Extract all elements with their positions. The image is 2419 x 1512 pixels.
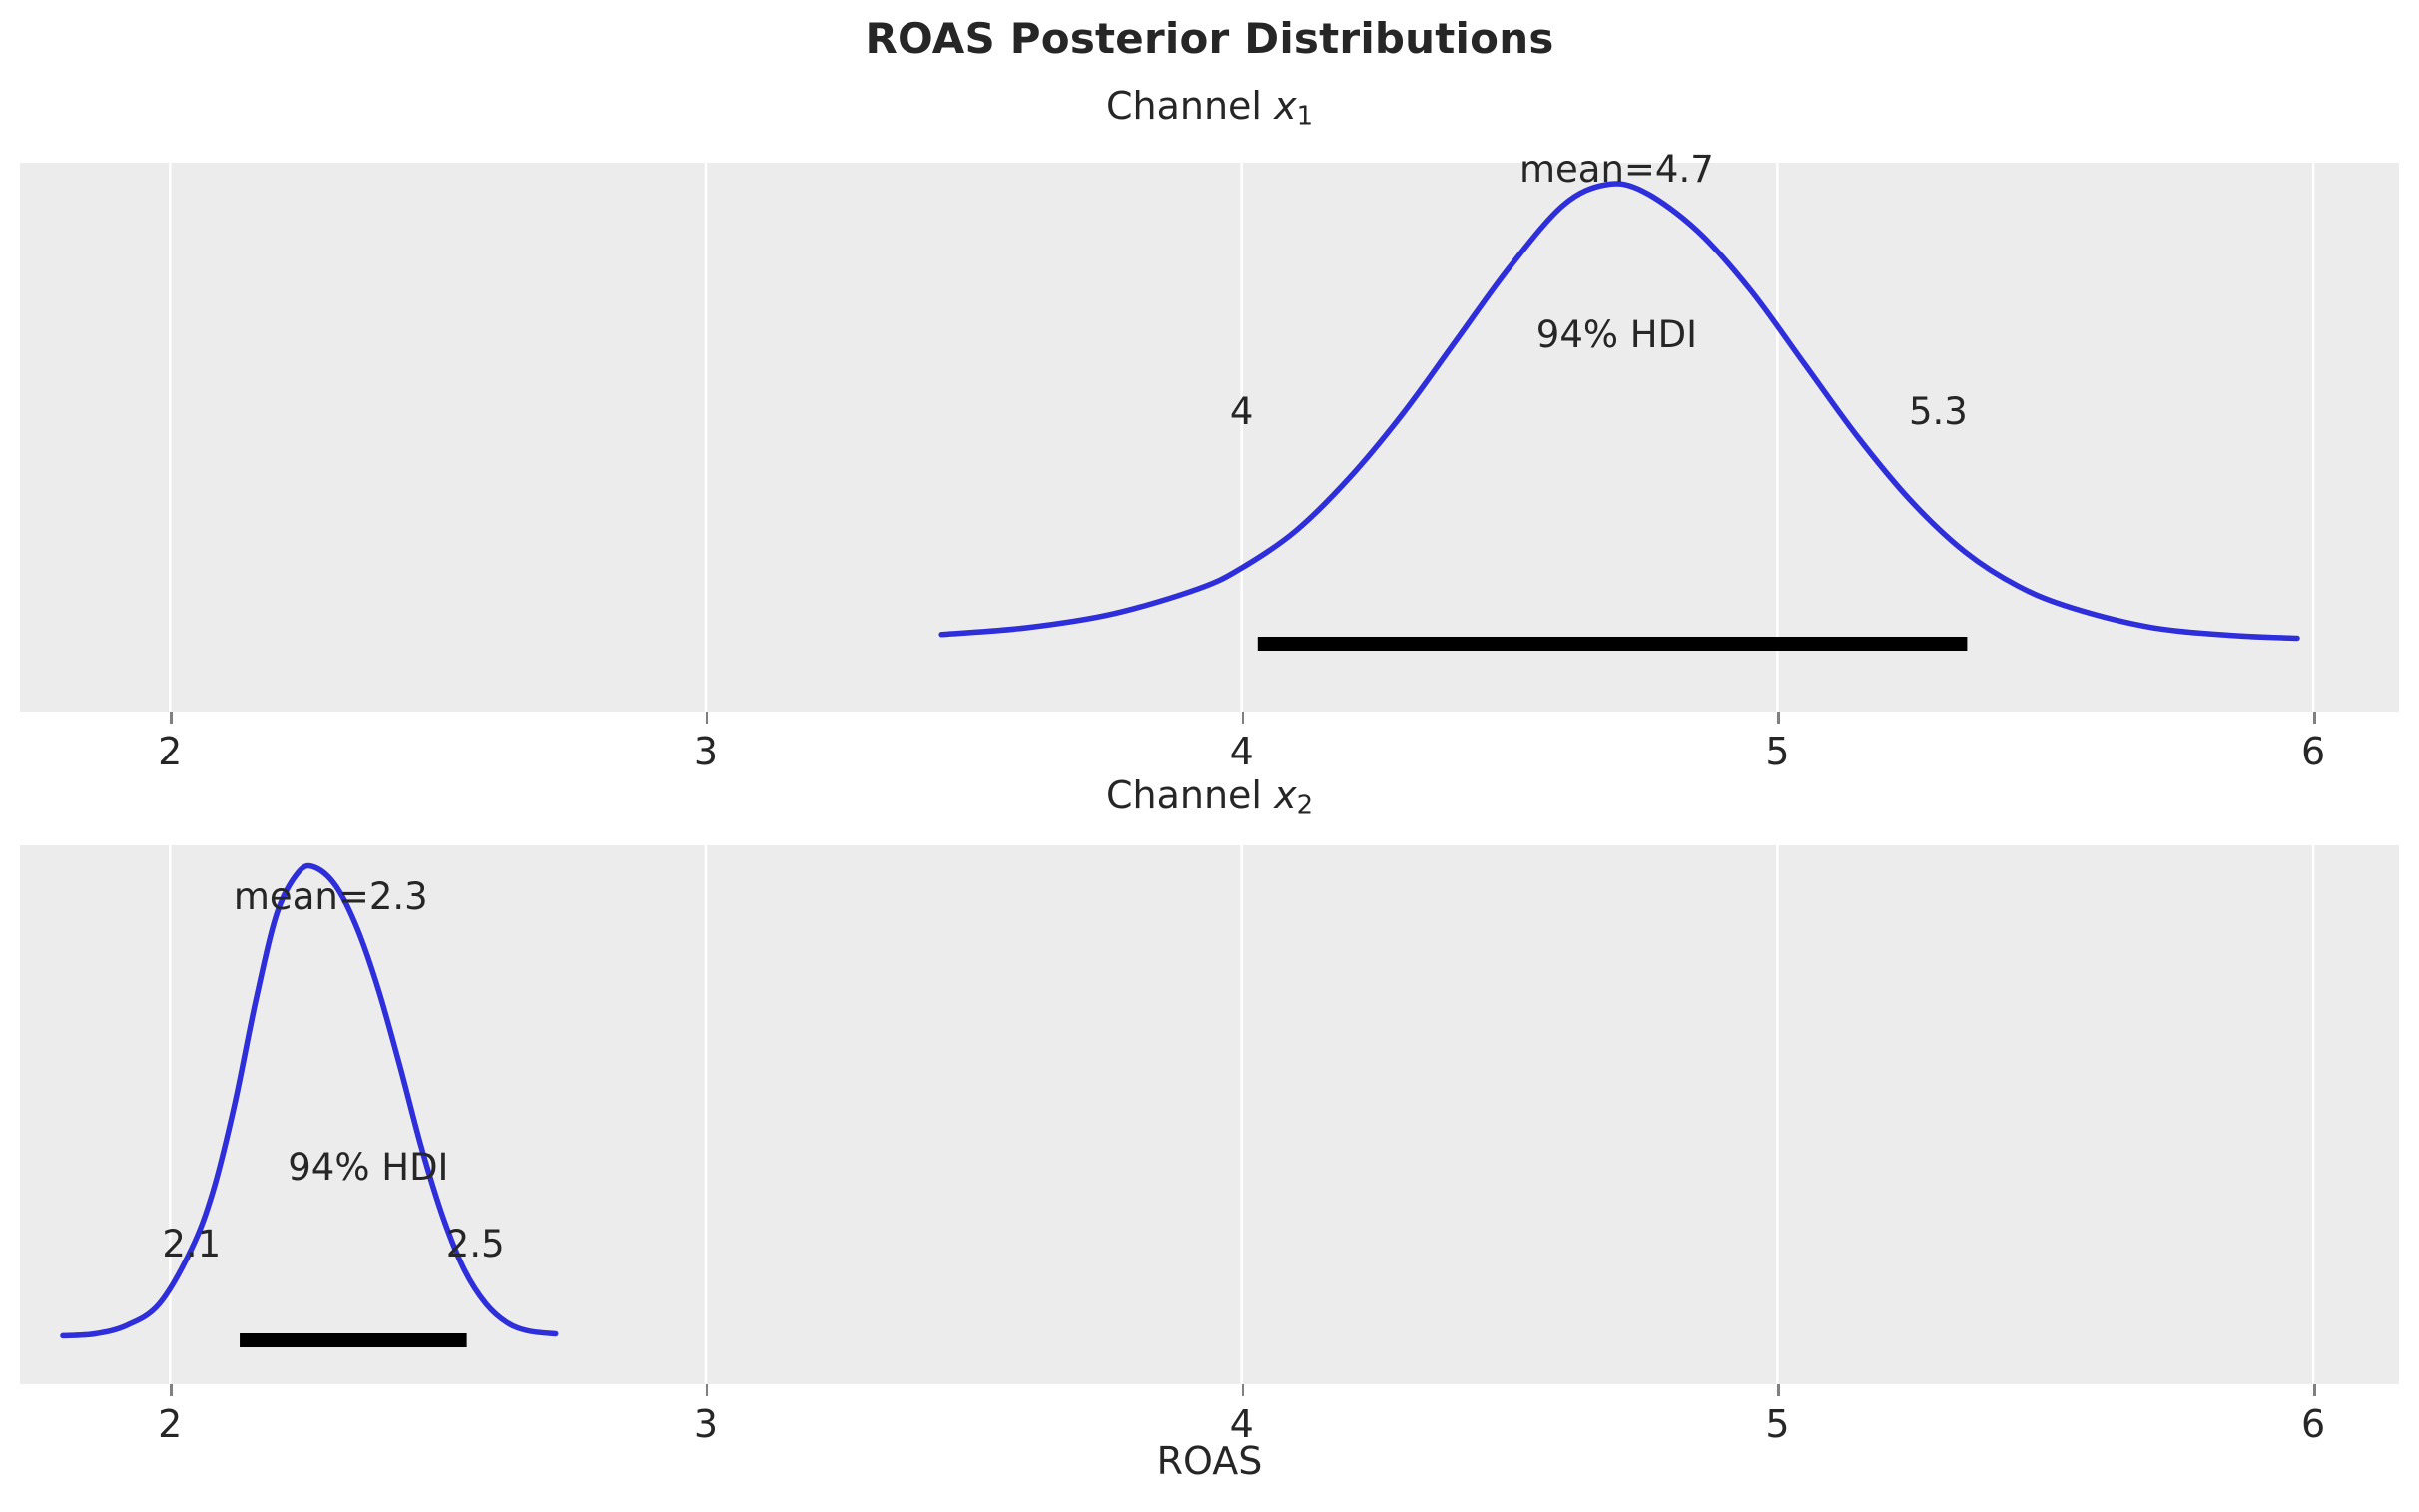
- subplot-1-gridlines: [170, 163, 2313, 712]
- subplot-title-1-variable: x: [1274, 84, 1297, 128]
- subplot-1-svg: [20, 163, 2399, 712]
- subplot-title-2-prefix: Channel: [1106, 773, 1274, 817]
- x-tick-mark-4: [1242, 1384, 1244, 1396]
- subplot-1-kde-curve: [941, 184, 2297, 638]
- subplot-1-mean-label: mean=4.7: [1519, 148, 1714, 191]
- x-tick-mark-2: [170, 1384, 172, 1396]
- x-tick-mark-4: [1242, 712, 1244, 724]
- subplot-2-hdi-label: 94% HDI: [288, 1146, 448, 1189]
- x-tick-mark-5: [1777, 1384, 1779, 1396]
- x-tick-label-6: 6: [2301, 730, 2325, 773]
- subplot-2-plot-area: [20, 845, 2399, 1384]
- subplot-title-1-subscript: 1: [1297, 102, 1313, 132]
- subplot-2-hdi-low-label: 2.1: [162, 1223, 221, 1265]
- x-tick-mark-5: [1777, 712, 1779, 724]
- subplot-1-hdi-label: 94% HDI: [1536, 313, 1697, 356]
- subplot-title-2-subscript: 2: [1297, 791, 1313, 821]
- subplot-title-2-variable: x: [1274, 773, 1297, 817]
- subplot-title-channel-2: Channel x2: [0, 773, 2419, 821]
- subplot-1-plot-area: [20, 163, 2399, 712]
- subplot-title-1-prefix: Channel: [1106, 84, 1274, 128]
- x-tick-label-5: 5: [1765, 730, 1789, 773]
- subplot-2-hdi-high-label: 2.5: [446, 1223, 505, 1265]
- subplot-2-svg: [20, 845, 2399, 1384]
- x-tick-mark-6: [2313, 712, 2315, 724]
- figure-canvas: ROAS Posterior Distributions Channel x1 …: [0, 0, 2419, 1512]
- x-tick-label-3: 3: [694, 730, 718, 773]
- x-tick-mark-6: [2313, 1384, 2315, 1396]
- subplot-title-channel-1: Channel x1: [0, 84, 2419, 132]
- subplot-1-hdi-low-label: 4: [1230, 390, 1254, 433]
- subplot-2-gridlines: [170, 845, 2313, 1384]
- subplot-2-mean-label: mean=2.3: [234, 875, 428, 918]
- x-tick-mark-3: [706, 712, 708, 724]
- x-tick-mark-3: [706, 1384, 708, 1396]
- subplot-1-hdi-high-label: 5.3: [1909, 390, 1968, 433]
- x-tick-label-2: 2: [158, 730, 182, 773]
- figure-title: ROAS Posterior Distributions: [0, 14, 2419, 63]
- x-tick-label-4: 4: [1230, 730, 1254, 773]
- x-axis-label: ROAS: [0, 1439, 2419, 1483]
- x-tick-mark-2: [170, 712, 172, 724]
